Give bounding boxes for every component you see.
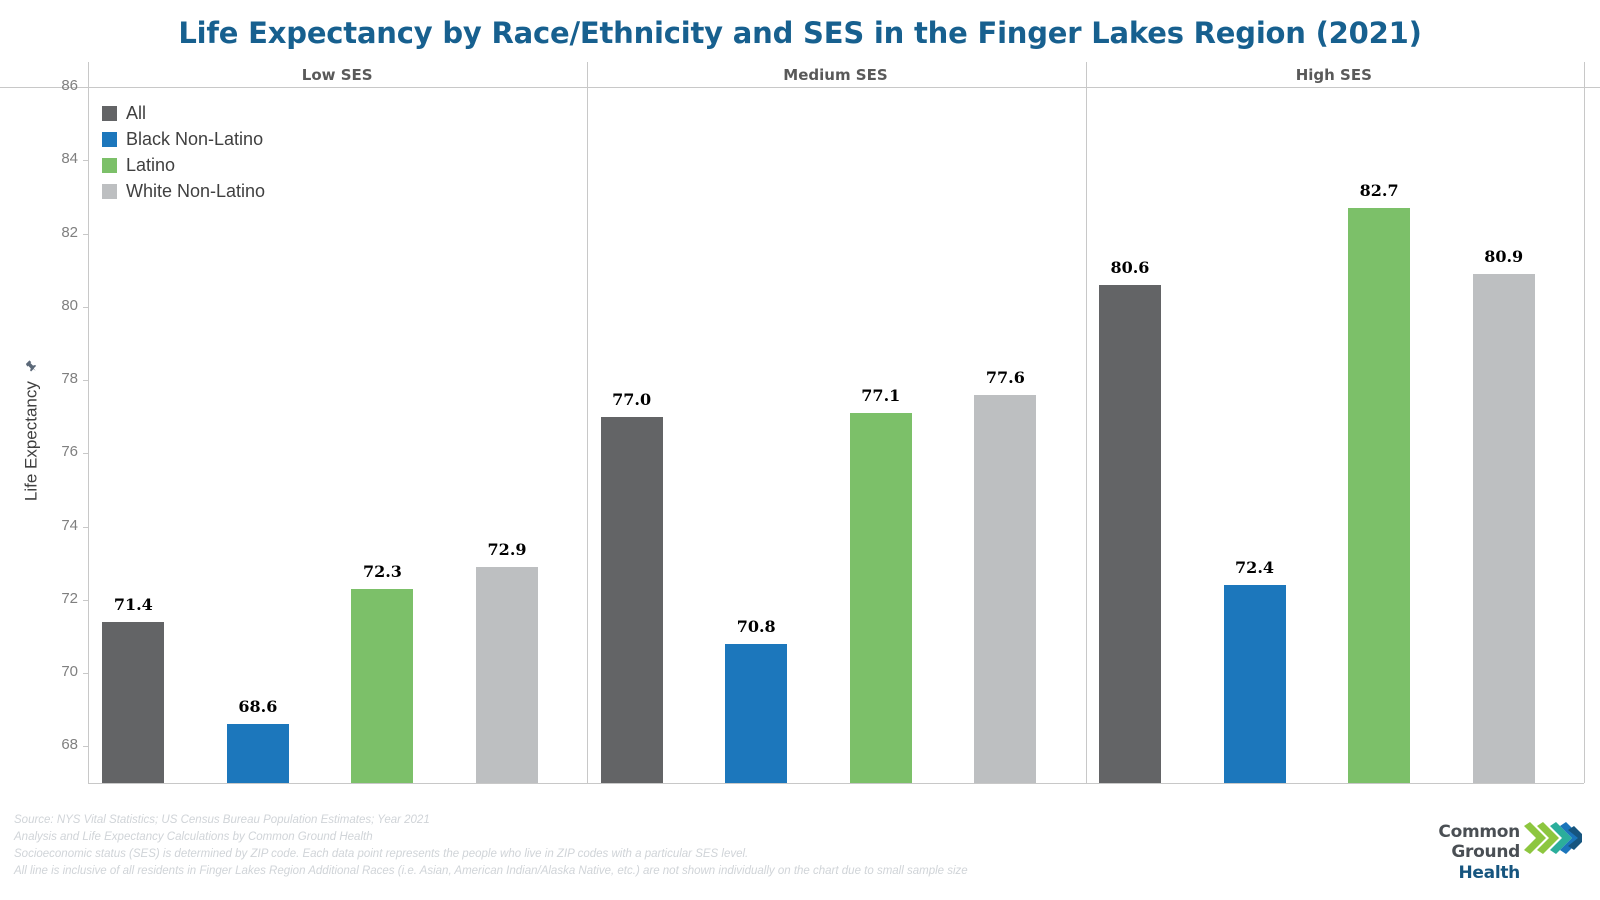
legend-item[interactable]: White Non-Latino — [102, 178, 265, 204]
footnote-line: Analysis and Life Expectancy Calculation… — [14, 829, 1334, 846]
bar-value-label: 77.6 — [960, 368, 1050, 387]
y-axis-title-label: Life Expectancy — [22, 381, 41, 501]
legend-item-label: Latino — [126, 155, 175, 176]
footnote-line: All line is inclusive of all residents i… — [14, 863, 1334, 880]
x-axis-baseline — [88, 783, 1584, 784]
bar[interactable] — [1224, 585, 1286, 783]
bar[interactable] — [1348, 208, 1410, 783]
y-axis-tick-mark — [83, 453, 88, 454]
bar[interactable] — [725, 644, 787, 783]
y-axis-tick-label: 80 — [0, 297, 78, 314]
legend-swatch-icon — [102, 106, 117, 121]
bar-value-label: 82.7 — [1334, 181, 1424, 200]
bar[interactable] — [102, 622, 164, 783]
footnote-line: Source: NYS Vital Statistics; US Census … — [14, 812, 1334, 829]
y-axis-tick-mark — [83, 234, 88, 235]
y-axis-tick-mark — [83, 380, 88, 381]
legend-item[interactable]: Latino — [102, 152, 265, 178]
panel-header-medium-ses: Medium SES — [586, 62, 1084, 87]
legend-item[interactable]: All — [102, 100, 265, 126]
legend: AllBlack Non-LatinoLatinoWhite Non-Latin… — [102, 100, 265, 204]
bar[interactable] — [974, 395, 1036, 783]
y-axis-tick-mark — [83, 600, 88, 601]
legend-item-label: All — [126, 103, 146, 124]
legend-swatch-icon — [102, 184, 117, 199]
legend-item-label: White Non-Latino — [126, 181, 265, 202]
bar-value-label: 72.4 — [1210, 558, 1300, 577]
panel-divider — [1086, 62, 1087, 783]
y-axis-tick-label: 70 — [0, 663, 78, 680]
bar-value-label: 77.1 — [836, 386, 926, 405]
y-axis-tick-label: 82 — [0, 224, 78, 241]
pin-icon — [22, 359, 42, 372]
y-axis-tick-mark — [83, 746, 88, 747]
page-title: Life Expectancy by Race/Ethnicity and SE… — [0, 16, 1600, 50]
chart-page: Life Expectancy by Race/Ethnicity and SE… — [0, 0, 1600, 900]
bar-value-label: 80.9 — [1459, 247, 1549, 266]
bar[interactable] — [601, 417, 663, 783]
brand-logo: Common Ground Health — [1382, 820, 1582, 876]
panel-header-high-ses: High SES — [1085, 62, 1583, 87]
bar[interactable] — [227, 724, 289, 783]
bar-value-label: 70.8 — [711, 617, 801, 636]
y-axis-tick-mark — [83, 87, 88, 88]
bar[interactable] — [351, 589, 413, 783]
footnote-line: Socioeconomic status (SES) is determined… — [14, 846, 1334, 863]
panel-header-low-ses: Low SES — [88, 62, 586, 87]
bar-value-label: 72.9 — [462, 540, 552, 559]
y-axis-tick-mark — [83, 673, 88, 674]
plot-right-border — [1584, 62, 1585, 783]
y-axis-tick-mark — [83, 527, 88, 528]
bar-value-label: 68.6 — [213, 697, 303, 716]
y-axis-tick-label: 84 — [0, 150, 78, 167]
legend-swatch-icon — [102, 158, 117, 173]
bar-value-label: 77.0 — [587, 390, 677, 409]
y-axis-tick-label: 86 — [0, 77, 78, 94]
footnotes: Source: NYS Vital Statistics; US Census … — [14, 812, 1334, 880]
y-axis-tick-mark — [83, 160, 88, 161]
chevrons-icon — [1524, 822, 1582, 873]
bar-value-label: 72.3 — [337, 562, 427, 581]
bar-value-label: 71.4 — [88, 595, 178, 614]
bar[interactable] — [1099, 285, 1161, 783]
legend-item[interactable]: Black Non-Latino — [102, 126, 265, 152]
bar[interactable] — [850, 413, 912, 783]
bar[interactable] — [1473, 274, 1535, 783]
panel-divider — [587, 62, 588, 783]
legend-swatch-icon — [102, 132, 117, 147]
logo-line-1: Common Ground — [1382, 822, 1520, 862]
legend-item-label: Black Non-Latino — [126, 129, 263, 150]
plot-area: 71.468.672.372.977.070.877.177.680.672.4… — [89, 87, 1584, 783]
logo-wordmark: Common Ground Health — [1382, 822, 1520, 884]
logo-line-2: Health — [1382, 862, 1520, 884]
bar[interactable] — [476, 567, 538, 783]
y-axis-tick-label: 68 — [0, 736, 78, 753]
y-axis-title: Life Expectancy — [22, 320, 43, 540]
y-axis-tick-mark — [83, 307, 88, 308]
y-axis-tick-label: 72 — [0, 590, 78, 607]
bar-value-label: 80.6 — [1085, 258, 1175, 277]
